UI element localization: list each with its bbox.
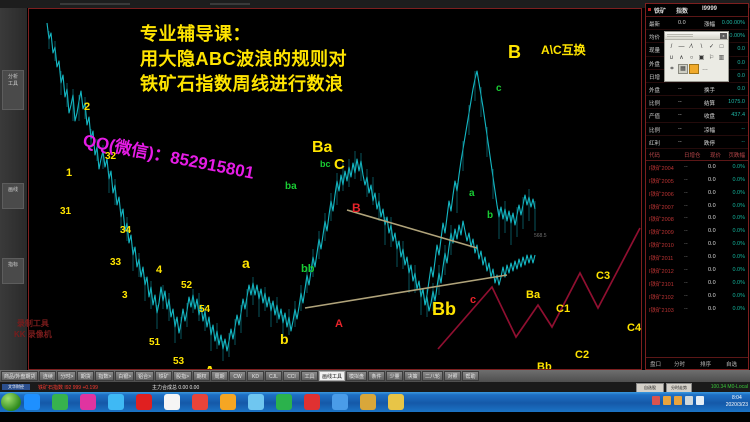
- wave-label-c-26: c: [496, 83, 502, 94]
- draw-tool-icon-1-5[interactable]: □: [717, 42, 726, 52]
- col-change: 页跌幅: [728, 151, 745, 159]
- table-row[interactable]: I铁矿2102--0.00.0%: [646, 290, 748, 303]
- table-row[interactable]: I铁矿2008--0.00.0%: [646, 212, 748, 225]
- system-tray[interactable]: [652, 396, 704, 405]
- tab-2[interactable]: 分时>: [57, 371, 76, 381]
- tab-7[interactable]: 铁矿: [155, 371, 172, 381]
- wave-label-b-14: b: [280, 331, 289, 347]
- wave-label-34-4: 34: [120, 225, 131, 236]
- cell-code: I铁矿2007: [649, 203, 674, 211]
- cell-price: 0.0: [708, 254, 716, 260]
- cell-price: 0.0: [708, 215, 716, 221]
- wave-label-a-24: a: [469, 188, 475, 199]
- quote-label-2: 结算: [704, 99, 715, 107]
- tab-23[interactable]: 帮助: [462, 371, 479, 381]
- cell-price: 0.0: [708, 228, 716, 234]
- quote-panel-footer[interactable]: 盘口 分时 排序 自选: [646, 357, 748, 369]
- cell-change: 0.0%: [732, 241, 745, 247]
- quote-value: --: [741, 139, 745, 145]
- cell-delta: --: [684, 177, 688, 183]
- palette-title-bar[interactable]: x: [665, 32, 728, 40]
- drawing-tools-palette[interactable]: x /—∕\\✓□ ∪∧○▣⚐▥ ⌗▦…: [664, 31, 729, 82]
- cell-change: 0.0%: [732, 164, 745, 170]
- quote-label: 红利: [649, 139, 660, 147]
- table-row[interactable]: I铁矿2005--0.00.0%: [646, 174, 748, 187]
- cell-code: I铁矿2006: [649, 190, 674, 198]
- note-app-icon[interactable]: [388, 394, 404, 410]
- col-delta: 日增仓: [684, 151, 701, 159]
- palette-tool-rows: /—∕\\✓□ ∪∧○▣⚐▥ ⌗▦…: [665, 40, 728, 74]
- tab-20[interactable]: 决策: [404, 371, 421, 381]
- tab-17[interactable]: 模拟盘: [346, 371, 367, 381]
- footer-tab-0[interactable]: 盘口: [650, 360, 661, 368]
- draw-tool-icon-1-3[interactable]: \: [697, 42, 706, 52]
- table-row[interactable]: I铁矿2009--0.00.0%: [646, 225, 748, 238]
- headline-line-2: 用大隐ABC波浪的规则对: [140, 47, 347, 72]
- cell-change: 0.0%: [732, 203, 745, 209]
- cell-delta: --: [684, 215, 688, 221]
- palette-row-1: /—∕\\✓□: [667, 42, 726, 52]
- quote-label: 现量: [649, 46, 660, 54]
- quote-value: 0.0: [737, 46, 745, 52]
- quote-label-2: 凉幅: [704, 126, 715, 134]
- folder-icon[interactable]: [360, 394, 376, 410]
- wave-label-54-9: 54: [199, 304, 210, 315]
- sidebar-item-draw[interactable]: 画线: [2, 183, 24, 209]
- cell-code: I铁矿2103: [649, 306, 674, 314]
- cell-change: 0.0%: [732, 254, 745, 260]
- tab-21[interactable]: 二八轮: [422, 371, 443, 381]
- drag-handle-icon[interactable]: [667, 34, 693, 37]
- watermark-line-1: 录制工具: [14, 318, 52, 329]
- palette-row-3: ⌗▦…: [667, 64, 726, 74]
- draw-tool-icon-1-0[interactable]: /: [667, 42, 676, 52]
- tab-18[interactable]: 条件: [368, 371, 385, 381]
- tab-12[interactable]: KD: [247, 371, 264, 381]
- wave-label-31-3: 31: [60, 206, 71, 217]
- tray-icon-1[interactable]: [663, 396, 671, 405]
- tab-13[interactable]: CJL: [265, 371, 282, 381]
- wave-label-c-23: c: [470, 294, 476, 306]
- table-row[interactable]: I铁矿2103--0.00.0%: [646, 303, 748, 316]
- cell-change: 0.0%: [732, 306, 745, 312]
- wave-label-52-8: 52: [181, 280, 192, 291]
- quote-label-2: 换手: [704, 86, 715, 94]
- cell-price: 0.0: [708, 164, 716, 170]
- tab-0[interactable]: 商品/外盘期货: [1, 371, 38, 381]
- quote-mid: --: [678, 139, 682, 145]
- tab-1[interactable]: 连续: [39, 371, 56, 381]
- cell-code: I铁矿2010: [649, 241, 674, 249]
- quote-label: 均价: [649, 33, 660, 41]
- cell-code: I铁矿2101: [649, 280, 674, 288]
- cell-change: 0.0%: [732, 280, 745, 286]
- palette-row-2: ∪∧○▣⚐▥: [667, 53, 726, 63]
- draw-tool-icon-2-2[interactable]: ○: [687, 53, 696, 63]
- symbol-name: 指数: [676, 6, 688, 15]
- quote-mid: --: [678, 112, 682, 118]
- symbol-code: I9999: [702, 6, 717, 12]
- sidebar-item-indicator[interactable]: 指标: [2, 258, 24, 284]
- cell-delta: --: [684, 241, 688, 247]
- draw-tool-icon-1-4[interactable]: ✓: [707, 42, 716, 52]
- trading-software-window: 分析工具 画线 指标: [0, 0, 750, 422]
- wave-label-c4-33: C4: [627, 322, 641, 334]
- wave-label-ba-18: Ba: [312, 139, 332, 157]
- table-row[interactable]: I铁矿2007--0.00.0%: [646, 200, 748, 213]
- quote-value: 0.00%: [729, 33, 745, 39]
- cell-delta: --: [684, 280, 688, 286]
- start-button-icon[interactable]: [1, 393, 21, 411]
- quote-row: 比例--结算1075.0: [646, 96, 748, 109]
- wave-label-bb-16: bb: [301, 263, 314, 275]
- table-row[interactable]: I铁矿2004--0.00.0%: [646, 161, 748, 174]
- quote-label: 外盘: [649, 86, 660, 94]
- status-secondary-text: 主力合成总 0.00 0.00: [152, 384, 199, 391]
- wave-label-bb-22: Bb: [432, 299, 456, 320]
- quote-row: 红利--跌停--: [646, 136, 748, 149]
- wave-label-2-0: 2: [84, 101, 90, 113]
- quote-row: 比例--凉幅--: [646, 123, 748, 136]
- network-tray-icon[interactable]: [685, 396, 693, 405]
- quote-value: 0.00.00%: [722, 20, 745, 26]
- tab-8[interactable]: 股指>: [173, 371, 192, 381]
- table-row[interactable]: I铁矿2006--0.00.0%: [646, 187, 748, 200]
- watermark-line-2: KK 录像机: [14, 329, 52, 340]
- star-app-icon[interactable]: [80, 394, 96, 410]
- footer-tab-2[interactable]: 排序: [700, 360, 711, 368]
- wave-label-ba-28: Ba: [526, 289, 540, 301]
- recorder-watermark: 录制工具 KK 录像机: [14, 318, 52, 340]
- quote-mid: 0.0: [678, 20, 686, 26]
- draw-tool-icon-3-3[interactable]: …: [700, 64, 710, 74]
- draw-tool-icon-1-2[interactable]: ∕\: [687, 42, 696, 52]
- cell-delta: --: [684, 228, 688, 234]
- close-icon[interactable]: x: [720, 33, 727, 39]
- quote-row: 外盘--换手0.0: [646, 83, 748, 96]
- bottom-letterbox: [0, 412, 750, 422]
- windows-taskbar[interactable]: 8:04 2020/3/23: [0, 392, 750, 412]
- cell-change: 0.0%: [732, 228, 745, 234]
- left-toolbar: 分析工具 画线 指标: [0, 8, 27, 370]
- col-price: 现价: [710, 151, 721, 159]
- footer-tab-1[interactable]: 分时: [674, 360, 685, 368]
- bilibili-icon[interactable]: [332, 394, 348, 410]
- quote-row: 最新0.0涨幅0.00.00%: [646, 17, 748, 30]
- draw-tool-icon-3-1[interactable]: ▦: [678, 64, 688, 74]
- wave-label-bc-17: bc: [320, 159, 331, 169]
- cell-code: I铁矿2009: [649, 228, 674, 236]
- quote-value: --: [741, 126, 745, 132]
- quote-panel-header: 铁矿 指数 I9999: [646, 4, 748, 17]
- quote-label-2: 收盘: [704, 112, 715, 120]
- trendline-lower-wedge: [305, 275, 507, 308]
- cell-price: 0.0: [708, 241, 716, 247]
- cell-delta: --: [684, 190, 688, 196]
- cell-price: 0.0: [708, 203, 716, 209]
- table-row[interactable]: I铁矿2010--0.00.0%: [646, 238, 748, 251]
- status-square-icon: [648, 8, 651, 11]
- cell-change: 0.0%: [732, 177, 745, 183]
- mail-app-icon[interactable]: [304, 394, 320, 410]
- footer-tab-3[interactable]: 自选: [726, 360, 737, 368]
- tray-icon-0[interactable]: [652, 396, 660, 405]
- cell-delta: --: [684, 164, 688, 170]
- qq-penguin-icon[interactable]: [164, 394, 180, 410]
- wps-icon[interactable]: [276, 394, 292, 410]
- wave-label-c1-30: C1: [556, 303, 570, 315]
- firefox-icon[interactable]: [220, 394, 236, 410]
- draw-tool-icon-2-5[interactable]: ▥: [717, 53, 726, 63]
- wave-label-a-21: A: [335, 318, 343, 330]
- cell-code: I铁矿2004: [649, 164, 674, 172]
- volume-tray-icon[interactable]: [696, 396, 704, 405]
- cell-change: 0.0%: [732, 267, 745, 273]
- window-top-strip: [0, 0, 750, 8]
- table-row[interactable]: I铁矿2101--0.00.0%: [646, 277, 748, 290]
- wave-label-4-6: 4: [156, 264, 162, 276]
- wave-label-1-1: 1: [66, 167, 72, 179]
- wave-label-c2-31: C2: [575, 349, 589, 361]
- price-tag: 568.5: [534, 233, 547, 239]
- contract-table-header: 代码 日增仓 现价 页跌幅: [646, 149, 748, 161]
- cell-price: 0.0: [708, 177, 716, 183]
- weather-app-icon[interactable]: [248, 394, 264, 410]
- quote-mid: --: [678, 86, 682, 92]
- cell-price: 0.0: [708, 306, 716, 312]
- chart-window-frame: 分析工具 画线 指标: [0, 0, 750, 386]
- tab-15[interactable]: 工具: [301, 371, 318, 381]
- tab-10[interactable]: 周期: [211, 371, 228, 381]
- cell-price: 0.0: [708, 293, 716, 299]
- quote-value: 0.0: [737, 86, 745, 92]
- cell-price: 0.0: [708, 190, 716, 196]
- status-bar: 文华财经 铁矿石指数 I92 999 +0.199 主力合成总 0.00 0.0…: [0, 382, 750, 392]
- quote-label-2: 跌停: [704, 139, 715, 147]
- chrome-icon[interactable]: [192, 394, 208, 410]
- network-status-text: 100.34 M0-Local: [711, 384, 748, 390]
- cell-price: 0.0: [708, 280, 716, 286]
- wave-label-c-19: C: [334, 156, 345, 173]
- draw-tool-icon-2-3[interactable]: ▣: [697, 53, 706, 63]
- tab-4[interactable]: 指数>: [95, 371, 114, 381]
- tab-16[interactable]: 画线工具: [319, 371, 345, 381]
- cell-delta: --: [684, 293, 688, 299]
- tray-icon-2[interactable]: [674, 396, 682, 405]
- cell-change: 0.0%: [732, 293, 745, 299]
- quote-value: 0.0: [737, 60, 745, 66]
- wave-label-51-10: 51: [149, 337, 160, 348]
- wave-label-b-27: B: [508, 42, 521, 63]
- headline-line-1: 专业辅导课：: [140, 22, 347, 47]
- cell-change: 0.0%: [732, 190, 745, 196]
- ie-browser-icon[interactable]: [24, 394, 40, 410]
- taskbar-clock[interactable]: 8:04 2020/3/23: [726, 395, 748, 409]
- wave-label-a-13: a: [242, 255, 250, 271]
- quote-value: 1075.0: [728, 99, 745, 105]
- quote-mid: --: [678, 99, 682, 105]
- draw-tool-icon-3-0[interactable]: ⌗: [667, 64, 677, 74]
- contract-table-body[interactable]: I铁矿2004--0.00.0%I铁矿2005--0.00.0%I铁矿2006-…: [646, 161, 748, 316]
- wave-label-3-7: 3: [122, 290, 128, 301]
- red-app-icon[interactable]: [136, 394, 152, 410]
- draw-tool-icon-2-4[interactable]: ⚐: [707, 53, 716, 63]
- cell-code: I铁矿2008: [649, 215, 674, 223]
- wave-label-c3-32: C3: [596, 270, 610, 282]
- status-quote-text: 铁矿石指数 I92 999 +0.199: [38, 384, 98, 391]
- cell-delta: --: [684, 203, 688, 209]
- quote-label-2: 涨幅: [704, 20, 715, 28]
- sidebar-item-analysis[interactable]: 分析工具: [2, 70, 24, 110]
- tab-5[interactable]: 白银>: [115, 371, 134, 381]
- cell-price: 0.0: [708, 267, 716, 273]
- cell-change: 0.0%: [732, 215, 745, 221]
- headline-overlay: 专业辅导课： 用大隐ABC波浪的规则对 铁矿石指数周线进行数浪: [140, 22, 347, 97]
- trendline-upper-wedge: [347, 210, 477, 248]
- cell-delta: --: [684, 267, 688, 273]
- tab-11[interactable]: CW: [229, 371, 246, 381]
- cell-code: I铁矿2011: [649, 254, 673, 262]
- cell-code: I铁矿2012: [649, 267, 674, 275]
- draw-tool-icon-2-0[interactable]: ∪: [667, 53, 676, 63]
- quote-mid: --: [678, 126, 682, 132]
- table-row[interactable]: I铁矿2012--0.00.0%: [646, 264, 748, 277]
- media-player-icon[interactable]: [52, 394, 68, 410]
- cell-code: I铁矿2102: [649, 293, 674, 301]
- tab-22[interactable]: 对照: [444, 371, 461, 381]
- table-row[interactable]: I铁矿2011--0.00.0%: [646, 251, 748, 264]
- wave-label-ba-15: ba: [285, 181, 297, 192]
- tab-3[interactable]: 期货: [77, 371, 94, 381]
- tab-6[interactable]: 铝合>: [135, 371, 154, 381]
- draw-tool-icon-3-2[interactable]: [689, 64, 699, 74]
- quote-value: 0.0: [737, 73, 745, 79]
- tab-9[interactable]: 期权: [193, 371, 210, 381]
- wave-label-33-5: 33: [110, 257, 121, 268]
- quote-label: 比例: [649, 126, 660, 134]
- draw-tool-icon-2-1[interactable]: ∧: [677, 53, 686, 63]
- quote-label: 日增: [649, 73, 660, 81]
- wave-label-b-20: B: [352, 201, 361, 215]
- quote-label: 产值: [649, 112, 660, 120]
- wave-label-bb-29: Bb: [537, 361, 552, 369]
- clock-date: 2020/3/23: [726, 402, 748, 409]
- quote-label: 外盘: [649, 60, 660, 68]
- cloud-disk-icon[interactable]: [108, 394, 124, 410]
- draw-tool-icon-1-1[interactable]: —: [677, 42, 686, 52]
- quote-label: 比例: [649, 99, 660, 107]
- clock-time: 8:04: [726, 395, 748, 402]
- tab-19[interactable]: 少量: [386, 371, 403, 381]
- ac-swap-note: A\C互换: [541, 41, 586, 58]
- cell-delta: --: [684, 254, 688, 260]
- quote-value: 437.4: [731, 112, 745, 118]
- col-code: 代码: [649, 151, 660, 159]
- bottom-tab-bar[interactable]: 商品/外盘期货连续分时>期货指数>白银>铝合>铁矿股指>期权周期CWKDCJLC…: [0, 370, 750, 382]
- brand-logo: 文华财经: [2, 384, 30, 390]
- quote-label: 最新: [649, 20, 660, 28]
- tab-14[interactable]: CCI: [283, 371, 300, 381]
- cell-code: I铁矿2005: [649, 177, 674, 185]
- headline-line-3: 铁矿石指数周线进行数浪: [140, 72, 347, 97]
- wave-label-b-25: b: [487, 210, 493, 221]
- cell-delta: --: [684, 306, 688, 312]
- wave-label-a-12: A: [204, 364, 216, 369]
- quote-row: 产值--收盘437.4: [646, 109, 748, 122]
- wave-label-53-11: 53: [173, 356, 184, 367]
- symbol-label: 铁矿: [654, 6, 666, 15]
